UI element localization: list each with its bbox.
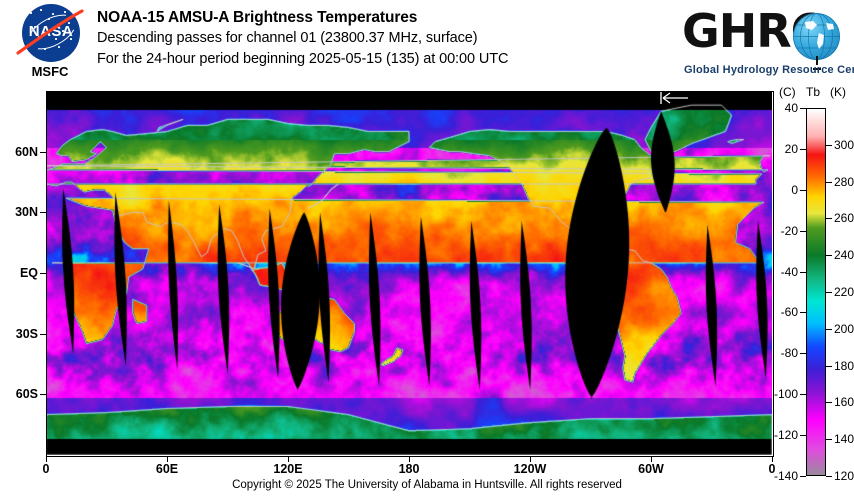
nasa-swoosh-icon [16, 9, 86, 57]
nasa-logo: NASA MSFC [8, 4, 92, 84]
colorbar-kelvin-label: 300 [834, 138, 854, 152]
colorbar-header-celsius: (C) [779, 85, 796, 99]
colorbar-tick [826, 329, 832, 330]
left-arrow-annotation-icon [659, 91, 689, 105]
x-axis-tick [409, 456, 410, 462]
colorbar-tick [826, 476, 832, 477]
nasa-center-label: MSFC [8, 64, 92, 79]
colorbar-kelvin-label: 240 [834, 248, 854, 262]
x-axis-label: 60W [638, 462, 664, 476]
x-axis-tick [651, 456, 652, 462]
colorbar-tick [826, 292, 832, 293]
ghrc-expansion: Global Hydrology Resource Center [684, 64, 854, 76]
colorbar-header-kelvin: (K) [830, 85, 846, 99]
subtitle-channel: Descending passes for channel 01 (23800.… [97, 28, 677, 49]
x-axis-label: 180 [399, 462, 420, 476]
x-axis-tick [167, 456, 168, 462]
colorbar-kelvin-label: 220 [834, 285, 854, 299]
title-block: NOAA-15 AMSU-A Brightness Temperatures D… [97, 8, 677, 70]
y-axis-label: 60S [0, 387, 38, 401]
x-axis-label: 120E [273, 462, 302, 476]
colorbar-kelvin-label: 180 [834, 359, 854, 373]
colorbar-tick [826, 402, 832, 403]
x-axis-label: 0 [769, 462, 776, 476]
y-axis-label: 30N [0, 205, 38, 219]
colorbar-tick [826, 366, 832, 367]
colorbar-kelvin-label: 200 [834, 322, 854, 336]
y-axis-label: 30S [0, 327, 38, 341]
page-title: NOAA-15 AMSU-A Brightness Temperatures [97, 8, 677, 28]
colorbar-tick [826, 255, 832, 256]
colorbar-tick [800, 476, 806, 477]
subtitle-period: For the 24-hour period beginning 2025-05… [97, 49, 677, 70]
map-raster [46, 91, 772, 455]
x-axis-tick [46, 456, 47, 462]
globe-icon [793, 13, 840, 60]
colorbar-gradient[interactable] [806, 108, 826, 476]
colorbar-kelvin-label: 140 [834, 432, 854, 446]
brightness-temperature-map[interactable] [46, 91, 772, 455]
x-axis-label: 60E [156, 462, 178, 476]
colorbar-kelvin-label: 160 [834, 395, 854, 409]
y-axis-label: 60N [0, 145, 38, 159]
x-axis-label: 120W [514, 462, 547, 476]
x-axis-tick [288, 456, 289, 462]
ghrc-logo: GHRC Global Hydrology Resource Center [682, 4, 842, 80]
colorbar-kelvin-label: 260 [834, 211, 854, 225]
colorbar-kelvin-label: 280 [834, 175, 854, 189]
colorbar-tick [826, 439, 832, 440]
x-axis-tick [530, 456, 531, 462]
copyright-notice: Copyright © 2025 The University of Alaba… [0, 479, 854, 491]
colorbar-tick [826, 145, 832, 146]
colorbar-header-tb: Tb [806, 85, 820, 99]
x-axis-tick [772, 456, 773, 462]
y-axis-label: EQ [0, 266, 38, 280]
colorbar-tick [826, 182, 832, 183]
colorbar-tick [826, 218, 832, 219]
x-axis-label: 0 [43, 462, 50, 476]
